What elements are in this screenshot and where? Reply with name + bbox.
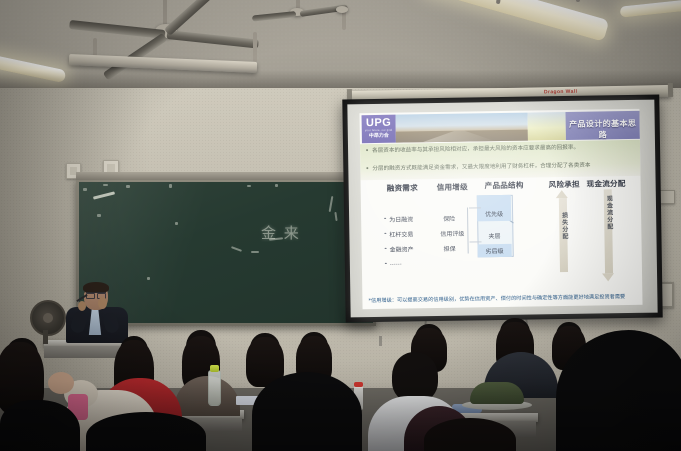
desk-front-panel [44,346,124,358]
chalk-mark [147,277,150,280]
student-hand [48,372,74,394]
arrow-loss-allocation: 损失分配 [556,190,570,272]
chalk-mark [126,185,130,188]
upg-logo: UPG your future, our goal 中昂力合 [362,115,396,144]
header-photo [396,113,528,143]
list-item: 信用评级 [440,229,464,238]
tranche-mezzanine: 夹层 [477,229,511,243]
arrow-label: 现金流分配 [604,195,614,230]
screen-surface: UPG your future, our goal 中昂力合 产品设计的基本思路… [347,100,657,318]
lecturer [58,283,136,341]
chalk-mark [83,188,87,191]
foreground-head-silhouette [0,400,80,451]
chalk-mark [97,214,101,217]
slide-header: UPG your future, our goal 中昂力合 产品设计的基本思路 [359,109,639,144]
list-item: 保险 [443,214,455,223]
green-hat [470,382,524,404]
chalk-mark [103,184,108,186]
logo-chinese-name: 中昂力合 [362,133,396,141]
arrow-label: 损失分配 [560,212,569,240]
slide-footnote: *信用增级：可以提高交易的信用级别，优势在信用资产、偿付的时间性与确定性等方面能… [368,293,636,305]
wall-scuff [379,336,382,346]
presentation-slide: UPG your future, our goal 中昂力合 产品设计的基本思路… [359,109,642,309]
list-item: 杠杆交易 [389,229,413,238]
water-bottle[interactable] [208,370,221,406]
arrow-cashflow-allocation: 现金流分配 [601,189,615,281]
column-header-cashflow: 现金流分配 [587,178,626,190]
projection-screen[interactable]: UPG your future, our goal 中昂力合 产品设计的基本思路… [342,95,662,323]
slide-bullet-text: 各层资本的收益率与其承担风险相对应，承担最大风险的资本应要求最高的回报率。 [372,145,579,154]
student-head [392,352,438,402]
connector-line [470,241,482,242]
logo-tagline: your future, our goal [362,129,396,134]
connector-line [469,207,481,208]
chalk-mark [169,184,172,188]
chalk-mark [175,222,178,225]
list-item: 担保 [444,244,456,253]
foreground-head-silhouette [252,372,362,451]
slide-title-bar: 产品设计的基本思路 [565,111,639,140]
column-header-risk: 风险承担 [549,179,580,190]
list-item: 金融资产 [390,244,414,253]
column-header-credit: 信用增级 [437,182,468,193]
logo-mark: UPG [362,117,396,130]
tranche-senior: 优先级 [477,195,511,222]
slide-title: 产品设计的基本思路 [566,118,640,141]
column-header-financing: 融资需求 [387,182,418,193]
housing-brand-label: Dragon Wall [544,89,577,96]
chalk-tray [76,172,376,180]
list-item: …… [390,260,402,267]
lecturer-hand [98,297,107,309]
list-item: 为日融资 [389,214,413,223]
header-photo-secondary [527,112,565,141]
lecturer-hand [78,301,86,311]
ceiling [0,0,681,96]
ceiling-fan-secondary [250,0,380,56]
column-divider [467,208,469,254]
chalk-mark [251,251,259,253]
tranche-junior: 劣后级 [478,244,512,258]
chalk-mark [247,185,251,187]
slide-bullet-text: 分层的融资方式既能满足资金需求，又最大限度地利用了财务杠杆，合理分配了各类资本 [372,163,590,172]
column-header-structure: 产品品结构 [485,180,524,192]
classroom-photo: 金 来 Dragon Wall [0,0,681,451]
chalk-mark [275,184,278,187]
chalk-writing: 金 来 [261,222,301,243]
